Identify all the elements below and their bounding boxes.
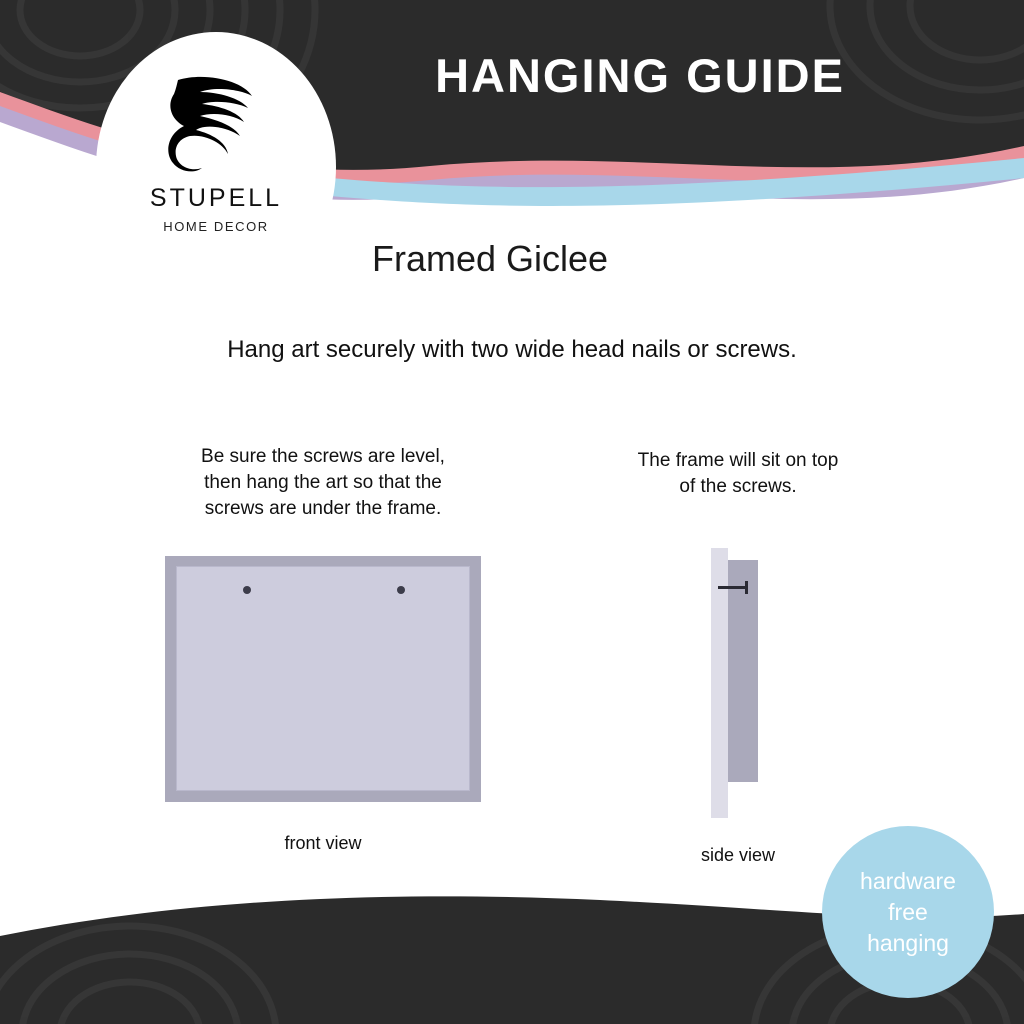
side-view-caption-line-2: of the screws. (580, 474, 896, 500)
badge-line-2: free (888, 897, 928, 928)
front-view-caption-line-2: then hang the art so that the (150, 470, 496, 496)
front-view-frame-diagram (165, 556, 481, 802)
side-view-screw-head-icon (745, 581, 748, 594)
badge-line-1: hardware (860, 866, 956, 897)
front-view-caption-line-3: screws are under the frame. (150, 496, 496, 522)
screw-dot-right-icon (397, 586, 405, 594)
front-view-frame-inner (176, 566, 470, 791)
side-view-label: side view (620, 845, 856, 866)
badge-line-3: hanging (867, 928, 949, 959)
screw-dot-left-icon (243, 586, 251, 594)
stupell-swan-logo-icon (156, 62, 276, 182)
front-view-caption-line-1: Be sure the screws are level, (150, 444, 496, 470)
brand-tagline: HOME DECOR (163, 219, 269, 234)
side-view-screw-shaft-icon (718, 586, 748, 589)
front-view-caption: Be sure the screws are level, then hang … (150, 444, 496, 522)
side-view-caption: The frame will sit on top of the screws. (580, 448, 896, 500)
product-type-title: Framed Giclee (300, 238, 932, 280)
front-view-label: front view (165, 833, 481, 854)
page-title: HANGING GUIDE (360, 48, 920, 103)
side-view-caption-line-1: The frame will sit on top (580, 448, 896, 474)
side-view-frame (728, 560, 758, 782)
hanging-guide-page: STUPELL HOME DECOR HANGING GUIDE Framed … (0, 0, 1024, 1024)
hardware-free-hanging-badge: hardware free hanging (822, 826, 994, 998)
main-instruction-text: Hang art securely with two wide head nai… (0, 336, 1024, 364)
brand-name: STUPELL (150, 184, 282, 213)
